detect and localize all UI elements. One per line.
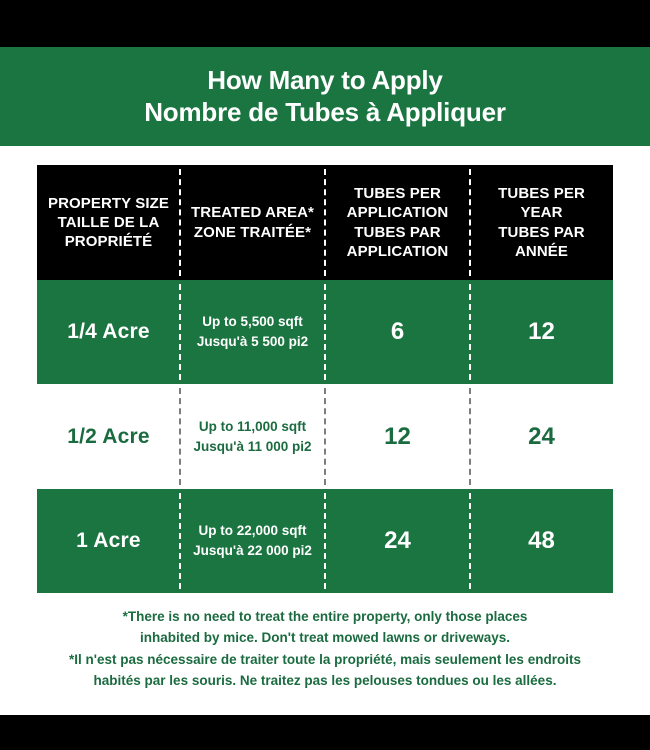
- property-size-value: 1 Acre: [76, 529, 141, 553]
- treated-area-english: Up to 11,000 sqft: [199, 417, 306, 437]
- header-line: ANNÉE: [515, 242, 568, 261]
- header-line: TREATED AREA*: [191, 203, 314, 222]
- cell-treated-area: Up to 22,000 sqft Jusqu'à 22 000 pi2: [180, 489, 325, 593]
- footnote-line: *Il n'est pas nécessaire de traiter tout…: [69, 649, 581, 670]
- header-line: TUBES PER: [354, 184, 441, 203]
- cell-property-size: 1 Acre: [37, 489, 180, 593]
- header-line: TUBES PAR: [498, 223, 584, 242]
- tubes-per-application-value: 12: [384, 423, 411, 451]
- header-line: TUBES PAR: [354, 223, 440, 242]
- footnote-line: *There is no need to treat the entire pr…: [123, 606, 528, 627]
- header-line: APPLICATION: [347, 203, 449, 222]
- treated-area-french: Jusqu'à 5 500 pi2: [197, 332, 308, 352]
- title-banner: How Many to Apply Nombre de Tubes à Appl…: [0, 47, 650, 146]
- top-black-band: [0, 0, 650, 47]
- cell-tubes-per-year: 48: [470, 489, 613, 593]
- table-header-tubes-per-year: TUBES PER YEAR TUBES PAR ANNÉE: [470, 165, 613, 280]
- header-line: PROPRIÉTÉ: [65, 232, 153, 251]
- header-line: TUBES PER YEAR: [476, 184, 607, 222]
- table-row: 1/4 Acre Up to 5,500 sqft Jusqu'à 5 500 …: [37, 280, 613, 384]
- table-header-tubes-per-application: TUBES PER APPLICATION TUBES PAR APPLICAT…: [325, 165, 470, 280]
- tubes-per-year-value: 12: [528, 318, 555, 346]
- tubes-per-year-value: 48: [528, 527, 555, 555]
- tubes-per-year-value: 24: [528, 423, 555, 451]
- table-header-property-size: PROPERTY SIZE TAILLE DE LA PROPRIÉTÉ: [37, 165, 180, 280]
- footnote-block: *There is no need to treat the entire pr…: [0, 606, 650, 691]
- application-rate-table: PROPERTY SIZE TAILLE DE LA PROPRIÉTÉ TRE…: [37, 165, 613, 593]
- page-title-english: How Many to Apply: [207, 65, 442, 97]
- tubes-per-application-value: 6: [391, 318, 404, 346]
- cell-treated-area: Up to 5,500 sqft Jusqu'à 5 500 pi2: [180, 280, 325, 384]
- bottom-black-band: [0, 715, 650, 750]
- header-line: PROPERTY SIZE: [48, 194, 169, 213]
- treated-area-english: Up to 5,500 sqft: [202, 312, 303, 332]
- treated-area-french: Jusqu'à 22 000 pi2: [193, 541, 312, 561]
- treated-area-english: Up to 22,000 sqft: [198, 521, 306, 541]
- table-header-treated-area: TREATED AREA* ZONE TRAITÉE*: [180, 165, 325, 280]
- property-size-value: 1/4 Acre: [67, 320, 150, 344]
- header-line: TAILLE DE LA: [58, 213, 160, 232]
- tubes-per-application-value: 24: [384, 527, 411, 555]
- table-row: 1/2 Acre Up to 11,000 sqft Jusqu'à 11 00…: [37, 384, 613, 489]
- property-size-value: 1/2 Acre: [67, 425, 150, 449]
- table-row: 1 Acre Up to 22,000 sqft Jusqu'à 22 000 …: [37, 489, 613, 593]
- cell-property-size: 1/4 Acre: [37, 280, 180, 384]
- cell-tubes-per-application: 6: [325, 280, 470, 384]
- header-line: ZONE TRAITÉE*: [194, 223, 311, 242]
- footnote-line: habités par les souris. Ne traitez pas l…: [94, 670, 557, 691]
- cell-property-size: 1/2 Acre: [37, 384, 180, 489]
- cell-tubes-per-application: 24: [325, 489, 470, 593]
- cell-treated-area: Up to 11,000 sqft Jusqu'à 11 000 pi2: [180, 384, 325, 489]
- cell-tubes-per-year: 24: [470, 384, 613, 489]
- cell-tubes-per-year: 12: [470, 280, 613, 384]
- page-title-french: Nombre de Tubes à Appliquer: [144, 97, 506, 129]
- table-header-row: PROPERTY SIZE TAILLE DE LA PROPRIÉTÉ TRE…: [37, 165, 613, 280]
- cell-tubes-per-application: 12: [325, 384, 470, 489]
- header-line: APPLICATION: [347, 242, 449, 261]
- footnote-line: inhabited by mice. Don't treat mowed law…: [140, 627, 510, 648]
- treated-area-french: Jusqu'à 11 000 pi2: [193, 437, 311, 457]
